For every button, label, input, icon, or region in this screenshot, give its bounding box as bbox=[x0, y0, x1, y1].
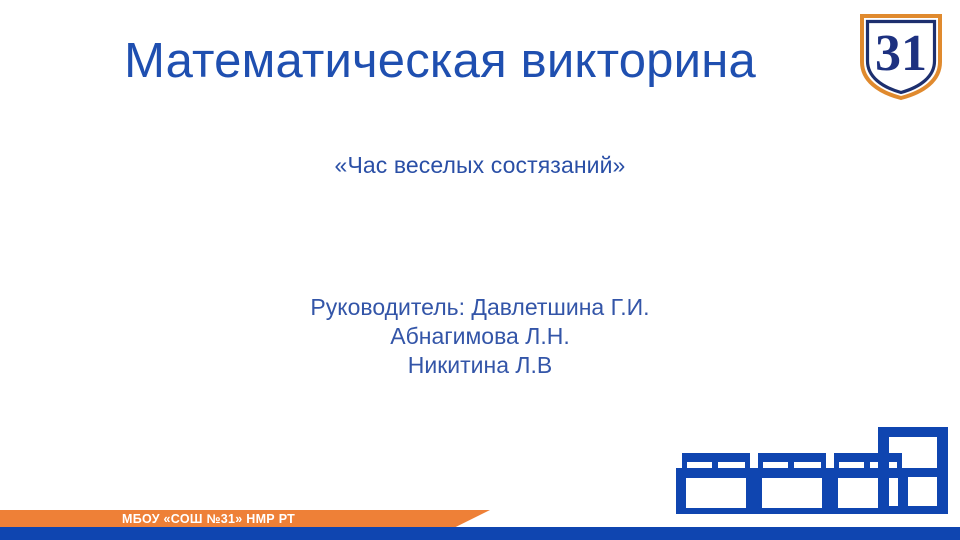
footer-school-label: МБОУ «СОШ №31» НМР РТ bbox=[122, 512, 295, 526]
page-title: Математическая викторина bbox=[60, 36, 820, 87]
author-line-1: Руководитель: Давлетшина Г.И. bbox=[80, 293, 880, 322]
logo-number: 31 bbox=[875, 25, 927, 82]
footer-blue-bar bbox=[0, 527, 960, 540]
shield-icon: 31 bbox=[852, 4, 950, 102]
presentation-slide: Математическая викторина «Час веселых со… bbox=[0, 0, 960, 540]
school-building-graphic bbox=[670, 418, 960, 530]
author-line-2: Абнагимова Л.Н. bbox=[80, 322, 880, 351]
slide-subtitle: «Час веселых состязаний» bbox=[80, 152, 880, 179]
author-line-3: Никитина Л.В bbox=[80, 351, 880, 380]
authors-block: Руководитель: Давлетшина Г.И. Абнагимова… bbox=[80, 293, 880, 381]
school-shield-logo: 31 bbox=[852, 4, 950, 102]
building-icon bbox=[670, 418, 960, 530]
